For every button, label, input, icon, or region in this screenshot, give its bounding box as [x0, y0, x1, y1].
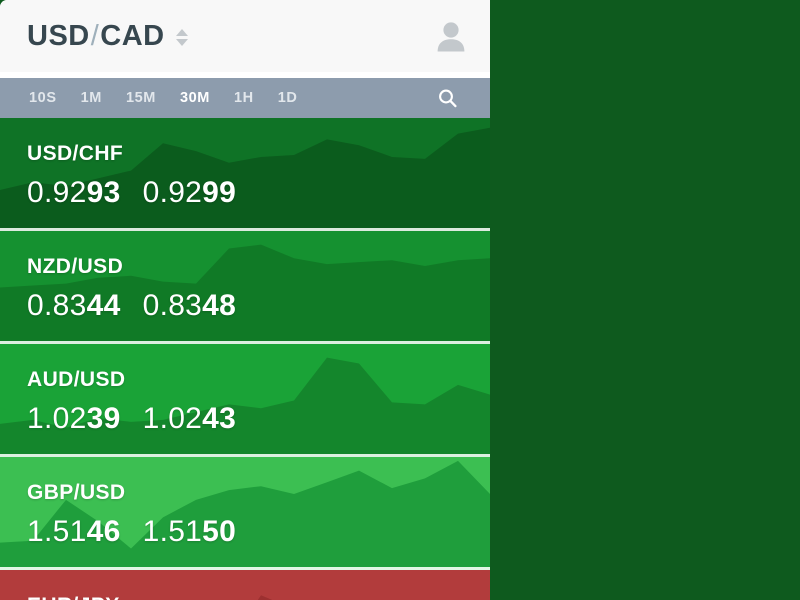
rate-row-eur-jpy[interactable]: EUR/JPY	[0, 570, 490, 600]
ask-tail: 43	[202, 402, 236, 435]
tab-15m[interactable]: 15M	[126, 90, 156, 106]
rate-row-body: AUD/USD 1.0239 1.0243	[0, 344, 490, 434]
tab-1d[interactable]: 1D	[278, 90, 298, 106]
rate-prices: 0.9293 0.9299	[27, 178, 490, 208]
rates-panel: USD/CAD 10S 1M 15M 30M 1H 1D	[0, 0, 490, 600]
rate-pair-label: GBP/USD	[27, 482, 490, 503]
tab-10s[interactable]: 10S	[29, 90, 57, 106]
rate-row-body: USD/CHF 0.9293 0.9299	[0, 118, 490, 208]
ask-tail: 48	[202, 289, 236, 322]
pair-quote-label: CAD	[100, 20, 164, 53]
timeframe-tabbar: 10S 1M 15M 30M 1H 1D	[0, 78, 490, 118]
ask-tail: 50	[202, 515, 236, 548]
rate-row-aud-usd[interactable]: AUD/USD 1.0239 1.0243	[0, 344, 490, 457]
tab-30m[interactable]: 30M	[180, 90, 210, 106]
rate-row-usd-chf[interactable]: USD/CHF 0.9293 0.9299	[0, 118, 490, 231]
bid-price: 1.0239	[27, 404, 121, 434]
rate-row-gbp-usd[interactable]: GBP/USD 1.5146 1.5150	[0, 457, 490, 570]
ask-tail: 99	[202, 176, 236, 209]
rate-pair-label: AUD/USD	[27, 369, 490, 390]
rate-row-body: NZD/USD 0.8344 0.8348	[0, 231, 490, 321]
ask-price: 0.9299	[143, 178, 237, 208]
rate-prices: 1.5146 1.5150	[27, 517, 490, 547]
triangle-down-icon	[176, 39, 188, 46]
ask-price: 1.0243	[143, 404, 237, 434]
bid-tail: 46	[87, 515, 121, 548]
bid-tail: 39	[87, 402, 121, 435]
selected-pair-title[interactable]: USD/CAD	[27, 20, 188, 53]
rates-list: USD/CHF 0.9293 0.9299 NZD/USD 0.8344	[0, 118, 490, 600]
rate-pair-label: USD/CHF	[27, 143, 490, 164]
triangle-up-icon	[176, 29, 188, 36]
bid-head: 0.92	[27, 176, 87, 209]
user-avatar-icon[interactable]	[434, 20, 468, 52]
ask-head: 1.02	[143, 402, 203, 435]
bid-price: 1.5146	[27, 517, 121, 547]
bid-price: 0.8344	[27, 291, 121, 321]
bid-head: 1.51	[27, 515, 87, 548]
tab-1h[interactable]: 1H	[234, 90, 254, 106]
ask-price: 1.5150	[143, 517, 237, 547]
pair-separator-label: /	[90, 20, 101, 53]
pair-base-label: USD	[27, 20, 90, 53]
ask-price: 0.8348	[143, 291, 237, 321]
rate-pair-label: EUR/JPY	[27, 595, 490, 600]
rate-pair-label: NZD/USD	[27, 256, 490, 277]
rate-prices: 0.8344 0.8348	[27, 291, 490, 321]
sort-up-down-icon[interactable]	[176, 27, 188, 46]
rate-row-nzd-usd[interactable]: NZD/USD 0.8344 0.8348	[0, 231, 490, 344]
tab-1m[interactable]: 1M	[81, 90, 102, 106]
app-root: USD/CAD 10S 1M 15M 30M 1H 1D	[0, 0, 800, 600]
bid-head: 0.83	[27, 289, 87, 322]
rate-row-body: EUR/JPY	[0, 570, 490, 600]
bid-tail: 44	[87, 289, 121, 322]
search-icon[interactable]	[438, 89, 457, 108]
bid-head: 1.02	[27, 402, 87, 435]
ask-head: 1.51	[143, 515, 203, 548]
rate-row-body: GBP/USD 1.5146 1.5150	[0, 457, 490, 547]
ask-head: 0.92	[143, 176, 203, 209]
rate-prices: 1.0239 1.0243	[27, 404, 490, 434]
panel-header: USD/CAD	[0, 0, 490, 72]
ask-head: 0.83	[143, 289, 203, 322]
bid-tail: 93	[87, 176, 121, 209]
bid-price: 0.9293	[27, 178, 121, 208]
